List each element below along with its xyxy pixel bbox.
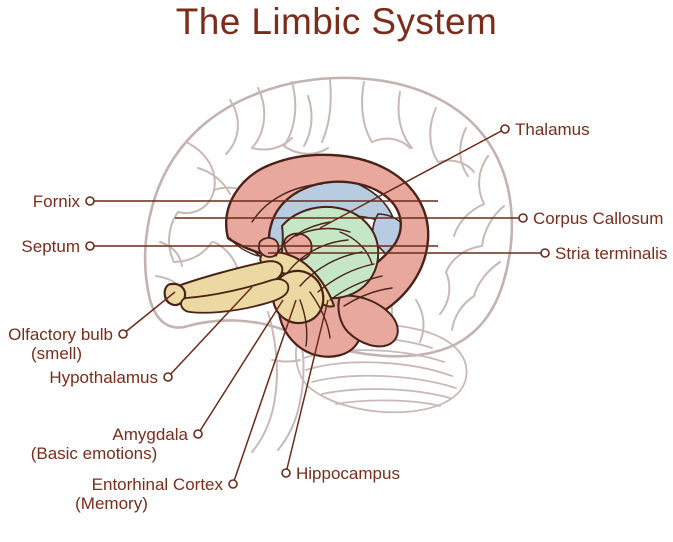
label-marker-amygdala[interactable] [194,430,202,438]
label-text-fornix: Fornix [0,192,80,211]
label-text-thalamus: Thalamus [515,120,590,139]
label-corpus-callosum: Corpus Callosum [533,209,663,228]
label-thalamus: Thalamus [515,120,590,139]
label-text-corpus-callosum: Corpus Callosum [533,209,663,228]
label-olfactory-bulb: Olfactory bulb(smell) [0,325,113,363]
label-marker-thalamus[interactable] [501,125,509,133]
label-amygdala: Amygdala(Basic emotions) [0,425,188,463]
label-sublabel-entorhinal-cortex: (Memory) [0,494,223,513]
label-text-hippocampus: Hippocampus [296,464,400,483]
label-text-septum: Septum [0,237,80,256]
label-text-hypothalamus: Hypothalamus [0,368,158,387]
label-entorhinal-cortex: Entorhinal Cortex(Memory) [0,475,223,513]
label-stria-terminalis: Stria terminalis [555,244,667,263]
label-marker-olfactory-bulb[interactable] [119,330,127,338]
label-sublabel-amygdala: (Basic emotions) [0,444,188,463]
brainstem-outline [252,312,277,452]
label-text-amygdala: Amygdala [0,425,188,444]
label-marker-hypothalamus[interactable] [164,373,172,381]
label-text-stria-terminalis: Stria terminalis [555,244,667,263]
label-septum: Septum [0,237,80,256]
label-hippocampus: Hippocampus [296,464,400,483]
leader-line-entorhinal-cortex [233,300,296,484]
label-text-olfactory-bulb: Olfactory bulb [0,325,113,344]
label-hypothalamus: Hypothalamus [0,368,158,387]
label-marker-hippocampus[interactable] [282,469,290,477]
limbic-system-diagram: The Limbic System [0,0,673,542]
label-text-entorhinal-cortex: Entorhinal Cortex [0,475,223,494]
label-sublabel-olfactory-bulb: (smell) [0,344,113,363]
label-fornix: Fornix [0,192,80,211]
label-marker-corpus-callosum[interactable] [519,214,527,222]
label-marker-septum[interactable] [86,242,94,250]
label-marker-fornix[interactable] [86,197,94,205]
label-marker-entorhinal-cortex[interactable] [229,480,237,488]
label-marker-stria-terminalis[interactable] [541,249,549,257]
septum-structure [259,238,279,257]
